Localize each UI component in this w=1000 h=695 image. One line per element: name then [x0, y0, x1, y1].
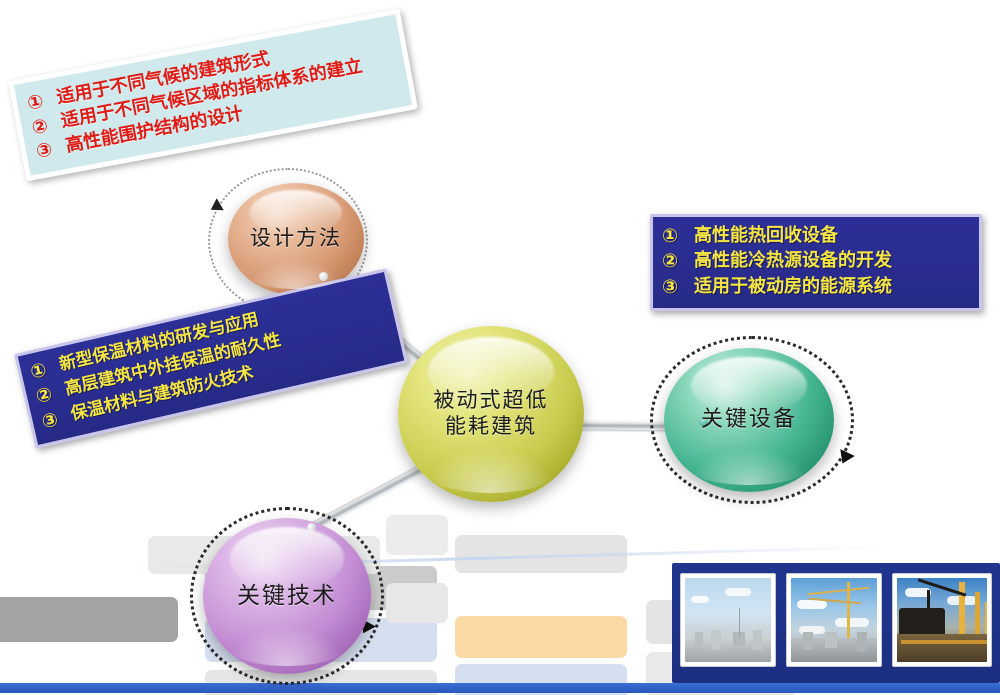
node-design-label: 设计方法 — [250, 226, 342, 252]
bg-block — [0, 597, 178, 642]
rod-cap — [319, 272, 328, 281]
node-center-label-line1: 被动式超低 — [434, 388, 549, 412]
node-center-label: 被动式超低 能耗建筑 — [434, 388, 549, 439]
list-marker: ③ — [662, 275, 694, 300]
photo-3 — [892, 573, 992, 667]
design-callout-list: ① 适用于不同气候的建筑形式 ② 适用于不同气候区域的指标体系的建立 ③ 高性能… — [25, 26, 396, 165]
equip-callout-item-3: ③ 适用于被动房的能源系统 — [662, 275, 967, 300]
bg-block — [386, 515, 448, 555]
sphere-underglow — [424, 447, 558, 493]
sphere-highlight — [691, 357, 807, 415]
rod-cap — [307, 523, 316, 532]
equip-callout-text-3: 适用于被动房的能源系统 — [694, 275, 967, 299]
photo-1 — [680, 573, 776, 667]
equip-callout[interactable]: ① 高性能热回收设备 ② 高性能冷热源设备的开发 ③ 适用于被动房的能源系统 — [650, 214, 982, 311]
node-center[interactable]: 被动式超低 能耗建筑 — [398, 326, 584, 502]
list-marker: ② — [662, 249, 694, 274]
design-callout[interactable]: ① 适用于不同气候的建筑形式 ② 适用于不同气候区域的指标体系的建立 ③ 高性能… — [8, 9, 418, 182]
node-equip[interactable]: 关键设备 — [664, 348, 834, 492]
sphere-highlight — [230, 527, 344, 589]
tech-callout-list: ① 新型保温材料的研发与应用 ② 高层建筑中外挂保温的耐久性 ③ 保温材料与建筑… — [28, 281, 391, 435]
photo-panel — [672, 563, 1000, 683]
photo-2 — [786, 573, 882, 667]
node-equip-label: 关键设备 — [701, 407, 797, 434]
node-tech-label: 关键技术 — [237, 582, 337, 610]
equip-callout-text-2: 高性能冷热源设备的开发 — [694, 249, 967, 273]
diagram-canvas: 设计方法 关键设备 关键技术 被动式超低 能耗建筑 ① 适用于不同气候的建筑形式… — [0, 0, 1000, 695]
node-center-label-line2: 能耗建筑 — [445, 414, 537, 438]
bottom-bar — [0, 683, 1000, 693]
list-marker: ③ — [34, 135, 68, 165]
node-tech[interactable]: 关键技术 — [203, 518, 371, 674]
equip-callout-item-2: ② 高性能冷热源设备的开发 — [662, 249, 967, 274]
sphere-underglow — [227, 626, 348, 667]
list-marker: ① — [662, 224, 694, 249]
bg-block — [455, 616, 627, 658]
tech-callout[interactable]: ① 新型保温材料的研发与应用 ② 高层建筑中外挂保温的耐久性 ③ 保温材料与建筑… — [14, 268, 408, 448]
bg-block — [386, 583, 448, 623]
equip-callout-item-1: ① 高性能热回收设备 — [662, 224, 967, 249]
sphere-underglow — [688, 447, 810, 484]
equip-callout-list: ① 高性能热回收设备 ② 高性能冷热源设备的开发 ③ 适用于被动房的能源系统 — [662, 224, 967, 300]
equip-callout-text-1: 高性能热回收设备 — [694, 224, 967, 248]
